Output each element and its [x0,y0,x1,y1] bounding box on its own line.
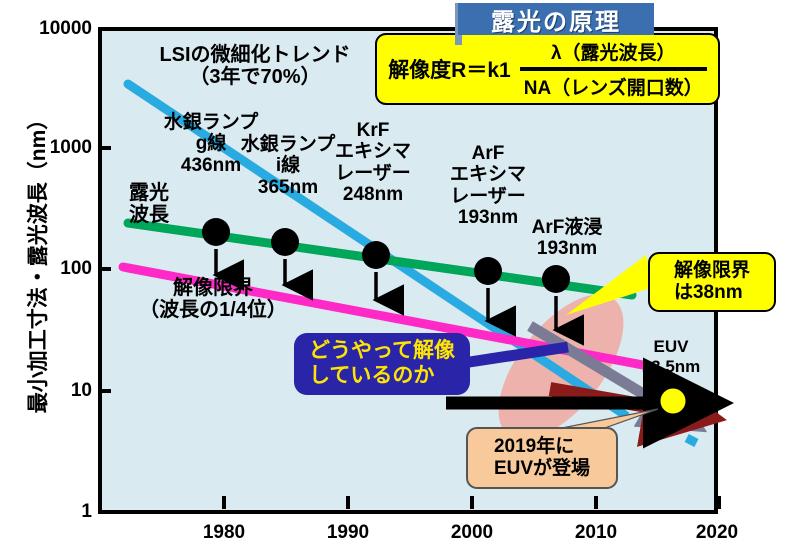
chart-canvas: 10000 1000 100 10 1 最小加工寸法・露光波長（nm） 1980… [0,0,788,556]
x-tick-label-2020: 2020 [696,522,738,544]
annotation-resolution-limit: 解像限界 （波長の1/4位） [118,277,308,322]
annotation-lsi-trend: LSIの微細化トレンド （3年で70%） [140,44,370,89]
annotation-arf-immersion: ArF液浸 193nm [512,217,622,260]
lsi-trend-dashed-tail [644,416,708,449]
annotation-euv: EUV 13.5nm [630,337,712,376]
annotation-exposure-wavelength: 露光 波長 [116,182,182,227]
x-tick-label-1980: 1980 [203,522,245,544]
formula-numerator: λ（露光波長） [547,38,680,65]
formula-fraction-bar [520,67,707,71]
callout-how-to-resolve: どうやって解像 しているのか [294,333,470,395]
data-point-hg-i [271,228,299,256]
title-banner: 露光の原理 [458,3,654,35]
x-tick-label-1990: 1990 [327,522,369,544]
page-title: 露光の原理 [491,2,621,37]
formula-left-hand-side: 解像度R＝k1 [388,54,511,84]
y-tick-label-1000: 1000 [50,137,92,159]
x-tick-label-2010: 2010 [575,522,617,544]
formula-box: 解像度R＝k1 λ（露光波長） NA（レンズ開口数） [375,33,720,105]
x-tick-label-2000: 2000 [451,522,493,544]
y-tick-label-10000: 10000 [39,18,92,40]
formula-denominator: NA（レンズ開口数） [520,73,707,100]
data-point-arf [474,257,502,285]
data-point-krf [362,241,390,269]
y-axis-label: 最小加工寸法・露光波長（nm） [22,96,52,426]
annotation-arf: ArF エキシマ レーザー 193nm [432,143,544,228]
y-tick-label-10: 10 [71,380,92,402]
formula-fraction: λ（露光波長） NA（レンズ開口数） [520,38,707,100]
callout-resolution-limit: 解像限界 は38nm [648,252,776,312]
y-tick-label-100: 100 [60,258,92,280]
annotation-krf: KrF エキシマ レーザー 248nm [317,120,429,205]
data-point-euv [659,387,687,415]
callout-euv-arrival: 2019年に EUVが登場 [466,427,618,489]
data-point-arf-immersion [542,265,570,293]
x-axis: 1980 1990 2000 2010 2020 [0,522,788,552]
data-point-hg-g [202,218,230,246]
